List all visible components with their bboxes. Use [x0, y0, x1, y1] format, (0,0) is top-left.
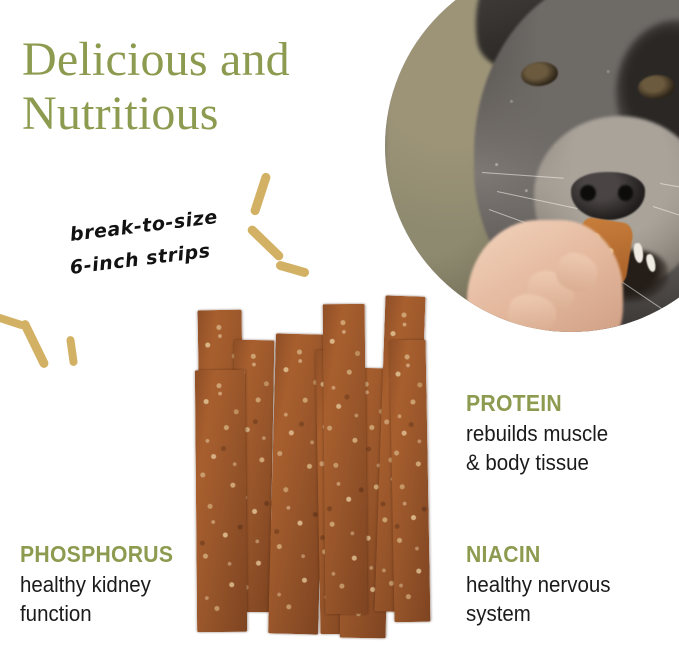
treat-strips-group [196, 296, 436, 646]
decorative-dash-left [19, 319, 50, 370]
benefit-niacin-body: healthy nervous system [466, 570, 610, 628]
benefit-protein: PROTEIN rebuilds muscle & body tissue [466, 390, 619, 477]
decorative-dash-left [66, 336, 78, 367]
dog-photo-circle [385, 0, 679, 332]
benefit-niacin: NIACIN healthy nervous system [466, 541, 621, 628]
treat-strip [390, 340, 431, 623]
page-title: Delicious and Nutritious [22, 33, 392, 141]
benefit-niacin-title: NIACIN [466, 541, 609, 567]
benefit-protein-body: rebuilds muscle & body tissue [466, 419, 608, 477]
benefit-phosphorus-body: healthy kidney function [20, 570, 175, 628]
benefit-phosphorus-title: PHOSPHORUS [20, 541, 173, 567]
treat-strip [195, 370, 247, 632]
handwritten-note-line1: break-to-size [69, 206, 219, 246]
decorative-dash-right [275, 260, 310, 278]
decorative-dash-right [249, 172, 271, 217]
decorative-dash-right [246, 224, 285, 262]
dog-photo-image [385, 0, 679, 332]
benefit-protein-title: PROTEIN [466, 390, 607, 416]
marketing-infographic: Delicious and Nutritious [0, 0, 679, 651]
benefit-phosphorus: PHOSPHORUS healthy kidney function [20, 541, 187, 628]
handwritten-note-line2: 6-inch strips [69, 240, 212, 279]
treat-strip [323, 304, 368, 614]
